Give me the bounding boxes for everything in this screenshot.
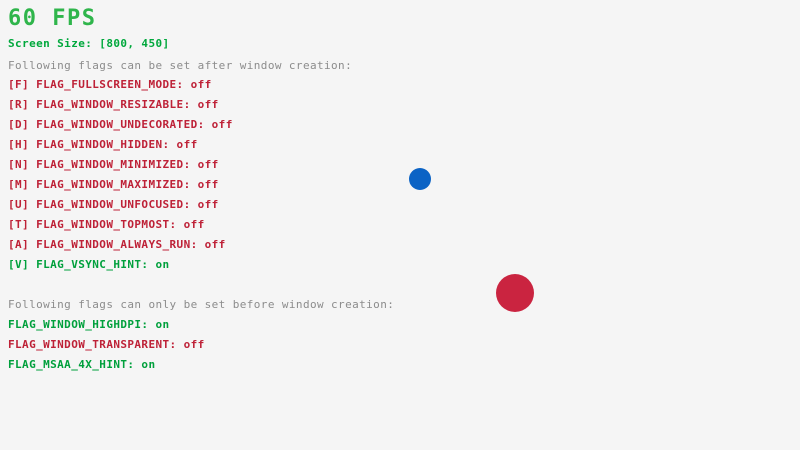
flag-status-flag-msaa-4x-hint[interactable]: FLAG_MSAA_4X_HINT: on bbox=[8, 359, 155, 370]
flag-toggle-flag-window-minimized[interactable]: [N] FLAG_WINDOW_MINIMIZED: off bbox=[8, 159, 219, 170]
flag-toggle-flag-window-always-run[interactable]: [A] FLAG_WINDOW_ALWAYS_RUN: off bbox=[8, 239, 226, 250]
blue-ball bbox=[409, 168, 431, 190]
screen-size-label: Screen Size: [800, 450] bbox=[8, 38, 170, 49]
fps-counter: 60 FPS bbox=[8, 8, 96, 30]
flag-toggle-flag-window-maximized[interactable]: [M] FLAG_WINDOW_MAXIMIZED: off bbox=[8, 179, 219, 190]
flag-toggle-flag-window-unfocused[interactable]: [U] FLAG_WINDOW_UNFOCUSED: off bbox=[8, 199, 219, 210]
flag-toggle-flag-window-undecorated[interactable]: [D] FLAG_WINDOW_UNDECORATED: off bbox=[8, 119, 233, 130]
flag-toggle-flag-window-hidden[interactable]: [H] FLAG_WINDOW_HIDDEN: off bbox=[8, 139, 198, 150]
raylib-window-canvas[interactable]: 60 FPS Screen Size: [800, 450] Following… bbox=[0, 0, 800, 450]
flag-toggle-flag-fullscreen-mode[interactable]: [F] FLAG_FULLSCREEN_MODE: off bbox=[8, 79, 212, 90]
section-heading-after-creation: Following flags can be set after window … bbox=[8, 60, 352, 71]
red-ball bbox=[496, 274, 534, 312]
flag-status-flag-window-transparent[interactable]: FLAG_WINDOW_TRANSPARENT: off bbox=[8, 339, 205, 350]
flag-toggle-flag-window-topmost[interactable]: [T] FLAG_WINDOW_TOPMOST: off bbox=[8, 219, 205, 230]
section-heading-before-creation: Following flags can only be set before w… bbox=[8, 299, 394, 310]
flag-toggle-flag-vsync-hint[interactable]: [V] FLAG_VSYNC_HINT: on bbox=[8, 259, 170, 270]
flag-status-flag-window-highdpi[interactable]: FLAG_WINDOW_HIGHDPI: on bbox=[8, 319, 170, 330]
flag-toggle-flag-window-resizable[interactable]: [R] FLAG_WINDOW_RESIZABLE: off bbox=[8, 99, 219, 110]
